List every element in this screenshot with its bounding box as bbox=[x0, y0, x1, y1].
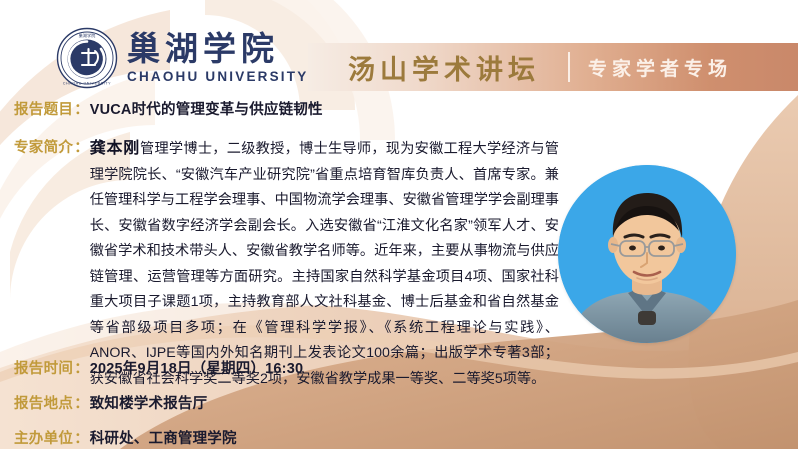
field-host: 主办单位 ： 科研处、工商管理学院 bbox=[14, 427, 237, 448]
time-label: 报告时间 bbox=[14, 357, 73, 378]
place-colon: ： bbox=[73, 392, 90, 413]
field-bio: 专家简介 ： 龚本刚管理学博士，二级教授，博士生导师，现为安徽工程大学经济与管理… bbox=[14, 136, 559, 392]
speaker-name: 龚本刚 bbox=[90, 140, 140, 157]
poster-canvas: 巢湖学院 CHAOHU UNIVERSITY 巢湖学院 CHAOHU UNIVE… bbox=[0, 0, 798, 449]
time-colon: ： bbox=[73, 357, 90, 378]
field-place: 报告地点 ： 致知楼学术报告厅 bbox=[14, 392, 207, 413]
host-value: 科研处、工商管理学院 bbox=[90, 427, 237, 448]
field-time: 报告时间 ： 2025年9月18日（星期四）16:30 bbox=[14, 357, 303, 378]
host-label: 主办单位 bbox=[14, 427, 73, 448]
place-value: 致知楼学术报告厅 bbox=[90, 392, 208, 413]
bio-text: 管理学博士，二级教授，博士生导师，现为安徽工程大学经济与管理学院院长、“安徽汽车… bbox=[90, 141, 559, 387]
topic-label: 报告题目 bbox=[14, 98, 73, 119]
speaker-portrait bbox=[558, 165, 736, 343]
bio-colon: ： bbox=[73, 136, 90, 157]
time-value: 2025年9月18日（星期四）16:30 bbox=[90, 357, 304, 378]
topic-value: VUCA时代的管理变革与供应链韧性 bbox=[90, 98, 323, 119]
bio-label: 专家简介 bbox=[14, 136, 73, 157]
bio-text-block: 龚本刚管理学博士，二级教授，博士生导师，现为安徽工程大学经济与管理学院院长、“安… bbox=[90, 136, 559, 392]
field-topic: 报告题目 ： VUCA时代的管理变革与供应链韧性 bbox=[14, 98, 323, 119]
host-colon: ： bbox=[73, 427, 90, 448]
topic-colon: ： bbox=[73, 98, 90, 119]
place-label: 报告地点 bbox=[14, 392, 73, 413]
